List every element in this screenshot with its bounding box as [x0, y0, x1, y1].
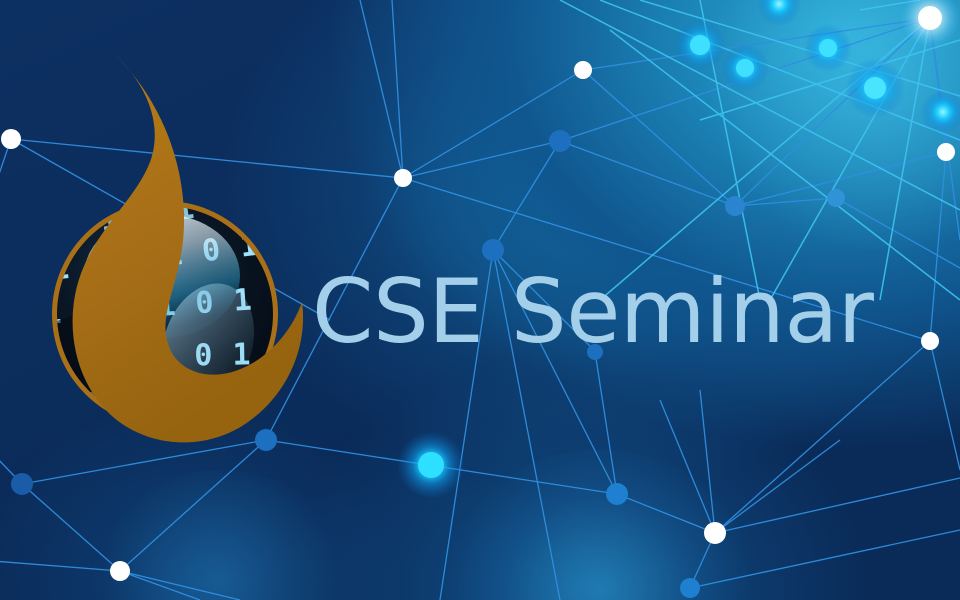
network-lines-bright	[560, 0, 960, 300]
cse-logo: 1 1 1 1 1 1 1 1 1 0 1 0 1 1 0 1 0 0 1 0 …	[40, 44, 330, 444]
page-title: CSE Seminar	[312, 268, 873, 356]
network-glow-dots	[397, 0, 960, 499]
seminar-banner: 1 1 1 1 1 1 1 1 1 0 1 0 1 1 0 1 0 0 1 0 …	[0, 0, 960, 600]
